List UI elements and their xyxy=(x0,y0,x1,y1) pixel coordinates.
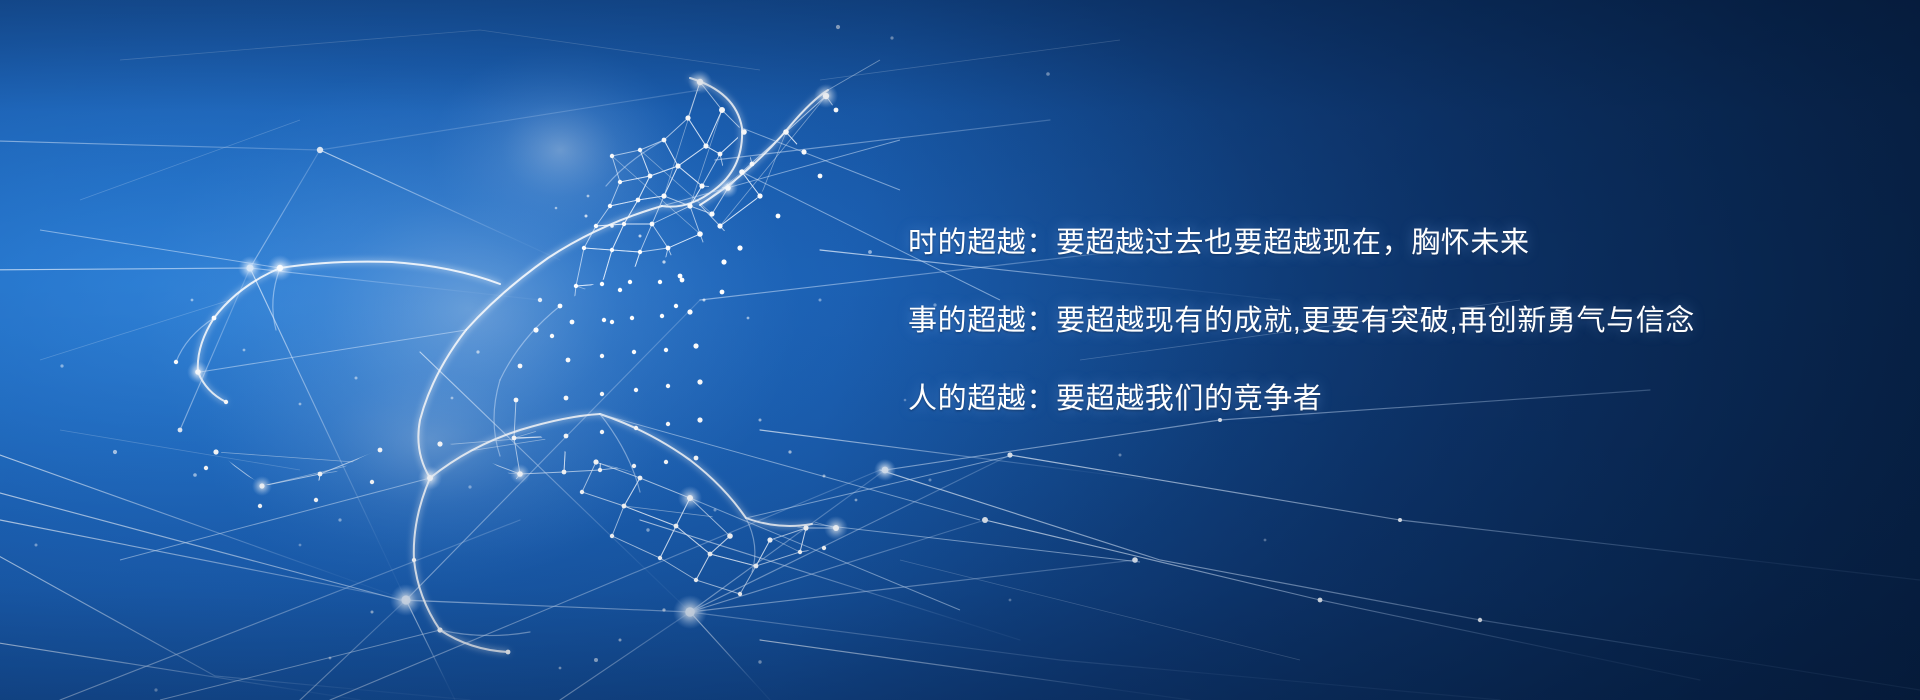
slogan-line-matter: 事的超越：要超越现有的成就,更要有突破,再创新勇气与信念 xyxy=(908,306,1608,336)
slogan-line-people: 人的超越：要超越我们的竞争者 xyxy=(908,384,1608,414)
hero-banner: 时的超越：要超越过去也要超越现在，胸怀未来 事的超越：要超越现有的成就,更要有突… xyxy=(0,0,1920,700)
slogan-line-time: 时的超越：要超越过去也要超越现在，胸怀未来 xyxy=(908,228,1608,258)
slogan-text-block: 时的超越：要超越过去也要超越现在，胸怀未来 事的超越：要超越现有的成就,更要有突… xyxy=(908,228,1608,414)
